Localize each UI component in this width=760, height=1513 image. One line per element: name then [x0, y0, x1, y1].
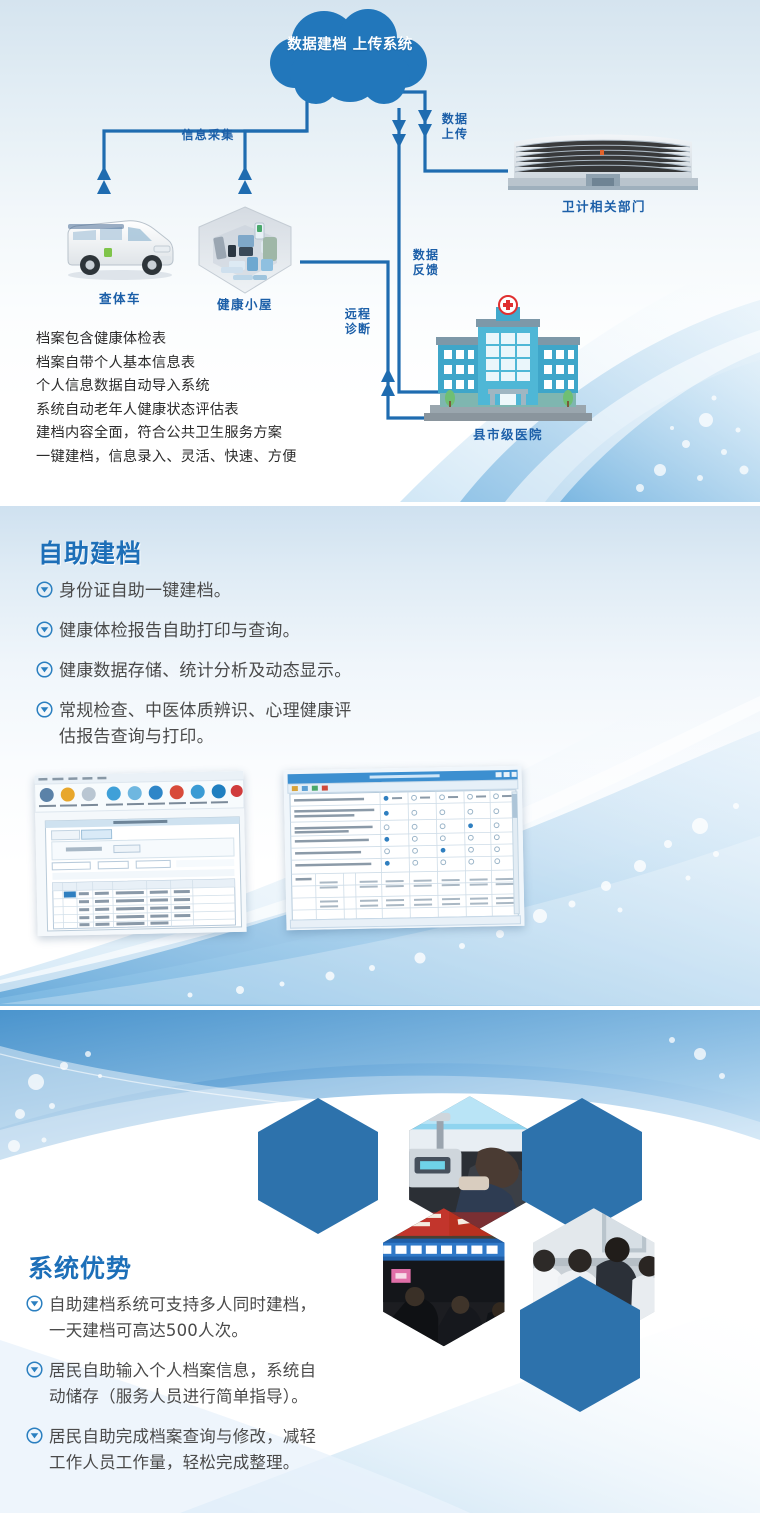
caption-county-hospital: 县市级医院 — [424, 424, 592, 443]
exam-van-image — [60, 210, 180, 282]
bullet-text: 健康体检报告自助打印与查询。 — [59, 618, 300, 644]
chevron-down-circle-icon — [36, 701, 53, 718]
hex-solid-top-right — [522, 1098, 642, 1234]
feature-item: 档案包含健康体检表 — [36, 328, 416, 352]
bullet-item: 健康体检报告自助打印与查询。 — [36, 618, 486, 644]
archive-management-window-screenshot[interactable] — [34, 771, 246, 936]
bullet-text: 健康数据存储、统计分析及动态显示。 — [59, 658, 351, 684]
section2-title: 自助建档 — [38, 534, 142, 570]
section3-title: 系统优势 — [28, 1249, 132, 1285]
assessment-form-window-screenshot[interactable] — [283, 766, 524, 931]
caption-health-dept: 卫计相关部门 — [513, 196, 695, 215]
feature-item: 个人信息数据自动导入系统 — [36, 375, 416, 399]
section-self-service-archiving: 自助建档 身份证自助一键建档。 健康体检报告自助打印与查询。 健康数据存储、统计… — [0, 506, 760, 1006]
bullet-item: 居民自助完成档案查询与修改，减轻 工作人员工作量，轻松完成整理。 — [26, 1424, 466, 1476]
cloud-node: 数据建档 上传系统 — [264, 8, 436, 112]
feature-item: 档案自带个人基本信息表 — [36, 352, 416, 376]
bullet-text: 身份证自助一键建档。 — [59, 578, 231, 604]
health-dept-building-image — [508, 126, 698, 190]
chevron-down-circle-icon — [26, 1295, 43, 1312]
chevron-down-circle-icon — [36, 581, 53, 598]
section3-bullet-list: 自助建档系统可支持多人同时建档， 一天建档可高达500人次。 居民自助输入个人档… — [26, 1292, 466, 1490]
flow-label-info-collect: 信息采集 — [163, 128, 253, 143]
bullet-item: 居民自助输入个人档案信息，系统自 动储存（服务人员进行简单指导）。 — [26, 1358, 466, 1410]
section-data-archiving-diagram: 数据建档 上传系统 信息采集 数据 上传 数据 反馈 远程 诊断 查体车 — [0, 0, 760, 502]
caption-health-cabin: 健康小屋 — [185, 294, 305, 313]
flow-label-data-upload: 数据 上传 — [437, 112, 473, 142]
bullet-item: 身份证自助一键建档。 — [36, 578, 486, 604]
bullet-text: 居民自助输入个人档案信息，系统自 动储存（服务人员进行简单指导）。 — [49, 1358, 316, 1410]
hex-photo-id-scanner — [398, 1088, 542, 1240]
caption-exam-van: 查体车 — [60, 288, 180, 307]
cloud-shape-icon — [264, 8, 436, 112]
bullet-text: 居民自助完成档案查询与修改，减轻 工作人员工作量，轻松完成整理。 — [49, 1424, 316, 1476]
chevron-down-circle-icon — [26, 1427, 43, 1444]
feature-item: 建档内容全面，符合公共卫生服务方案 — [36, 422, 416, 446]
cloud-label: 数据建档 上传系统 — [264, 36, 436, 55]
health-cabin-image — [191, 205, 299, 297]
feature-item: 一键建档，信息录入、灵活、快速、方便 — [36, 446, 416, 470]
chevron-down-circle-icon — [36, 621, 53, 638]
hex-solid-top-left — [258, 1098, 378, 1234]
bullet-item: 自助建档系统可支持多人同时建档， 一天建档可高达500人次。 — [26, 1292, 466, 1344]
bullet-text: 自助建档系统可支持多人同时建档， 一天建档可高达500人次。 — [49, 1292, 316, 1344]
section-system-advantages: 系统优势 自助建档系统可支持多人同时建档， 一天建档可高达500人次。 居民自助… — [0, 1010, 760, 1513]
chevron-down-circle-icon — [36, 661, 53, 678]
bullet-item: 健康数据存储、统计分析及动态显示。 — [36, 658, 486, 684]
bullet-text: 常规检查、中医体质辨识、心理健康评 估报告查询与打印。 — [59, 698, 351, 750]
section2-bullet-list: 身份证自助一键建档。 健康体检报告自助打印与查询。 健康数据存储、统计分析及动态… — [36, 578, 486, 764]
chevron-down-circle-icon — [26, 1361, 43, 1378]
flow-label-data-feedback: 数据 反馈 — [408, 248, 444, 278]
feature-list: 档案包含健康体检表 档案自带个人基本信息表 个人信息数据自动导入系统 系统自动老… — [36, 328, 416, 470]
county-hospital-image — [424, 295, 592, 423]
bullet-item: 常规检查、中医体质辨识、心理健康评 估报告查询与打印。 — [36, 698, 486, 750]
feature-item: 系统自动老年人健康状态评估表 — [36, 399, 416, 423]
